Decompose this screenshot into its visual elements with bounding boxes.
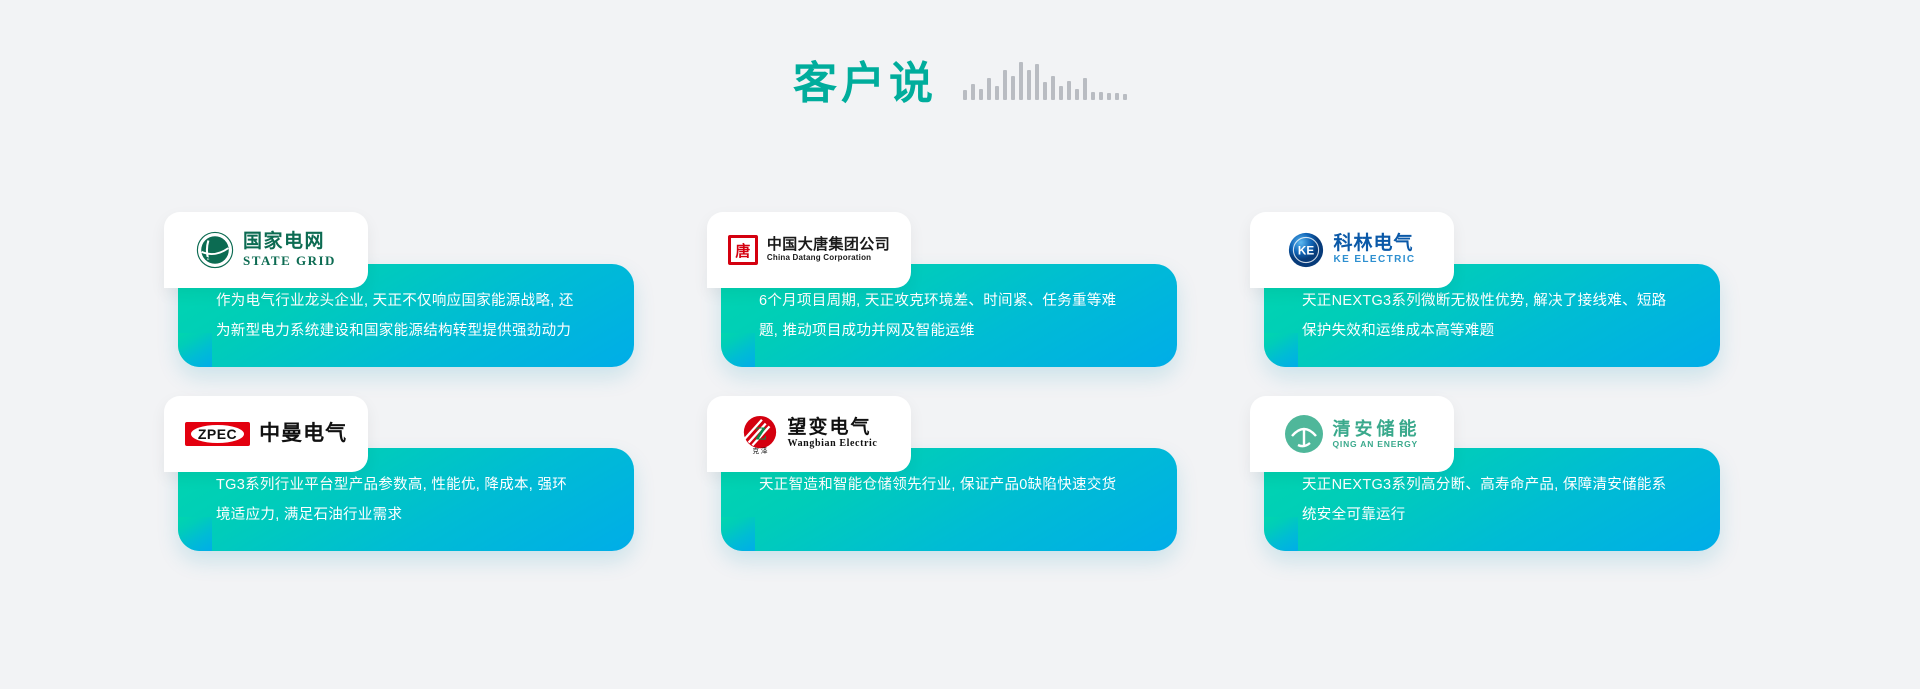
section-header: 客户说	[0, 62, 1920, 106]
testimonial-quote: 6个月项目周期, 天正攻克环境差、时间紧、任务重等难 题, 推动项目成功并网及智…	[759, 286, 1153, 346]
svg-text:Z: Z	[754, 424, 766, 444]
company-logo-badge: Z克 泽望变电气Wangbian Electric	[707, 396, 911, 472]
waveform-bar	[979, 89, 983, 100]
zpec-zhongman-electric-logo: ZPEC	[185, 422, 250, 446]
waveform-bar	[1003, 70, 1007, 100]
waveform-bar	[1059, 86, 1063, 100]
logo-name-cn: 中曼电气	[259, 422, 347, 446]
logo-wordmark: 科林电气KE ELECTRIC	[1333, 233, 1415, 267]
logo-wordmark: 国家电网STATE GRID	[243, 231, 336, 269]
waveform-bar	[1027, 70, 1031, 100]
company-logo-badge: 唐中国大唐集团公司China Datang Corporation	[707, 212, 911, 288]
waveform-bar	[1115, 93, 1119, 100]
china-datang-logo: 唐	[728, 235, 758, 265]
waveform-bar	[1011, 76, 1015, 100]
logo-name-cn: 国家电网	[243, 231, 336, 252]
waveform-bar	[963, 90, 967, 100]
testimonial-card[interactable]: 天正NEXTG3系列高分断、高寿命产品, 保障清安储能系 统安全可靠运行清安储能…	[1250, 396, 1720, 551]
customer-testimonials-section: 客户说 作为电气行业龙头企业, 天正不仅响应国家能源战略, 还 为新型电力系统建…	[0, 0, 1920, 689]
waveform-bar	[1043, 82, 1047, 100]
waveform-bar	[1035, 64, 1039, 100]
wangbian-electric-logo: Z克 泽	[741, 414, 779, 454]
testimonial-card-grid: 作为电气行业龙头企业, 天正不仅响应国家能源战略, 还 为新型电力系统建设和国家…	[164, 212, 1764, 551]
logo-wordmark: 中曼电气	[259, 422, 347, 446]
waveform-bar	[1123, 94, 1127, 100]
svg-text:克 泽: 克 泽	[752, 447, 767, 454]
logo-name-en: QING AN ENERGY	[1333, 439, 1421, 450]
waveform-bar	[995, 86, 999, 100]
state-grid-logo	[196, 231, 234, 269]
testimonial-card[interactable]: 作为电气行业龙头企业, 天正不仅响应国家能源战略, 还 为新型电力系统建设和国家…	[164, 212, 634, 367]
logo-name-cn: 望变电气	[788, 417, 878, 438]
testimonial-quote: 天正智造和智能仓储领先行业, 保证产品0缺陷快速交货	[759, 470, 1153, 500]
company-logo-badge: KE科林电气KE ELECTRIC	[1250, 212, 1454, 288]
waveform-bar	[1051, 76, 1055, 100]
logo-name-en: KE ELECTRIC	[1333, 254, 1415, 267]
logo-name-en: China Datang Corporation	[767, 253, 890, 263]
testimonial-quote: TG3系列行业平台型产品参数高, 性能优, 降成本, 强环 境适应力, 满足石油…	[216, 470, 610, 530]
waveform-bar	[971, 84, 975, 100]
logo-wordmark: 中国大唐集团公司China Datang Corporation	[767, 237, 890, 264]
audio-waveform-icon	[963, 62, 1127, 106]
testimonial-card[interactable]: 6个月项目周期, 天正攻克环境差、时间紧、任务重等难 题, 推动项目成功并网及智…	[707, 212, 1177, 367]
company-logo-badge: ZPEC中曼电气	[164, 396, 368, 472]
waveform-bar	[1107, 93, 1111, 100]
logo-name-en: STATE GRID	[243, 253, 336, 269]
qingan-energy-logo	[1284, 414, 1324, 454]
company-logo-badge: 国家电网STATE GRID	[164, 212, 368, 288]
waveform-bar	[1091, 92, 1095, 100]
logo-name-cn: 清安储能	[1333, 419, 1421, 439]
testimonial-card[interactable]: TG3系列行业平台型产品参数高, 性能优, 降成本, 强环 境适应力, 满足石油…	[164, 396, 634, 551]
logo-wordmark: 望变电气Wangbian Electric	[788, 417, 878, 451]
logo-name-cn: 中国大唐集团公司	[767, 237, 890, 254]
logo-name-en: Wangbian Electric	[788, 438, 878, 451]
waveform-bar	[1019, 62, 1023, 100]
ke-electric-logo: KE	[1288, 232, 1324, 268]
logo-name-cn: 科林电气	[1333, 233, 1415, 254]
testimonial-quote: 天正NEXTG3系列高分断、高寿命产品, 保障清安储能系 统安全可靠运行	[1302, 470, 1696, 530]
waveform-bar	[1083, 78, 1087, 100]
waveform-bar	[1099, 92, 1103, 100]
testimonial-card[interactable]: 天正智造和智能仓储领先行业, 保证产品0缺陷快速交货Z克 泽望变电气Wangbi…	[707, 396, 1177, 551]
logo-wordmark: 清安储能QING AN ENERGY	[1333, 419, 1421, 450]
company-logo-badge: 清安储能QING AN ENERGY	[1250, 396, 1454, 472]
waveform-bar	[1075, 89, 1079, 100]
page-title: 客户说	[793, 62, 937, 106]
waveform-bar	[1067, 81, 1071, 100]
svg-text:KE: KE	[1298, 245, 1314, 258]
waveform-bar	[987, 78, 991, 100]
testimonial-card[interactable]: 天正NEXTG3系列微断无极性优势, 解决了接线难、短路 保护失效和运维成本高等…	[1250, 212, 1720, 367]
testimonial-quote: 作为电气行业龙头企业, 天正不仅响应国家能源战略, 还 为新型电力系统建设和国家…	[216, 286, 610, 346]
testimonial-quote: 天正NEXTG3系列微断无极性优势, 解决了接线难、短路 保护失效和运维成本高等…	[1302, 286, 1696, 346]
